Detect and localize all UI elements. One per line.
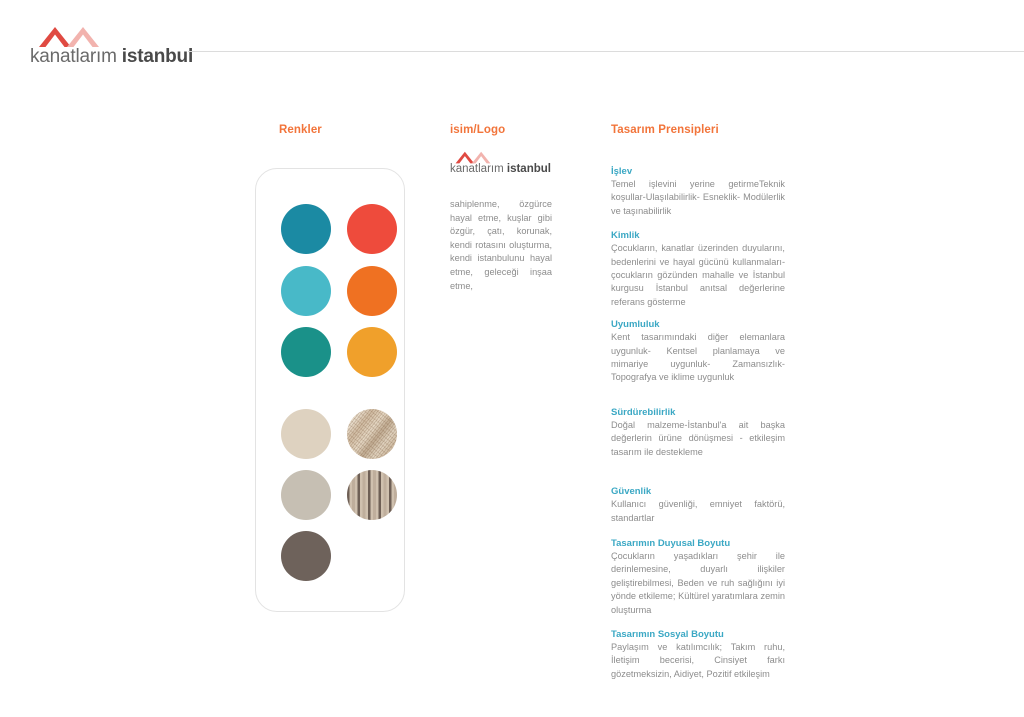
color-swatch-green-teal — [281, 327, 331, 377]
section-heading-isim-logo: isim/Logo — [450, 124, 505, 136]
principle-title: Tasarımın Duyusal Boyutu — [611, 538, 785, 549]
principle-block: Tasarımın Duyusal BoyutuÇocukların yaşad… — [611, 538, 785, 617]
isim-logo-column: kanatlarım istanbul sahiplenme, özgürce … — [450, 150, 555, 293]
brand-wordmark-light: kanatlarım — [30, 46, 117, 67]
principle-body: Çocukların, kanatlar üzerinden duyuların… — [611, 242, 785, 309]
principle-title: Sürdürebilirlik — [611, 407, 785, 418]
header-divider — [188, 51, 1024, 52]
color-swatch-coral-red — [347, 204, 397, 254]
color-swatch-wood-slats — [347, 470, 397, 520]
principle-block: İşlevTemel işlevini yerine getirmeTeknik… — [611, 166, 785, 218]
principle-body: Doğal malzeme-İstanbul'a ait başka değer… — [611, 419, 785, 459]
principle-body: Temel işlevini yerine getirmeTeknik koşu… — [611, 178, 785, 218]
color-swatch-teal-blue — [281, 204, 331, 254]
principle-block: GüvenlikKullanıcı güvenliği, emniyet fak… — [611, 486, 785, 525]
isim-logo-description: sahiplenme, özgürce hayal etme, kuşlar g… — [450, 198, 552, 293]
color-swatch-orange — [347, 266, 397, 316]
principle-block: KimlikÇocukların, kanatlar üzerinden duy… — [611, 230, 785, 309]
principle-title: Güvenlik — [611, 486, 785, 497]
principle-title: Kimlik — [611, 230, 785, 241]
brand-wordmark: kanatlarım istanbul — [30, 46, 193, 68]
color-swatch-amber-yellow — [347, 327, 397, 377]
color-swatch-wood-grain — [347, 409, 397, 459]
double-roof-chevron-icon — [455, 150, 491, 164]
principle-body: Çocukların yaşadıkları şehir ile derinle… — [611, 550, 785, 617]
mini-brand-wordmark: kanatlarım istanbul — [450, 163, 551, 175]
design-principles-column: İşlevTemel işlevini yerine getirmeTeknik… — [611, 166, 785, 681]
principle-block: Tasarımın Sosyal BoyutuPaylaşım ve katıl… — [611, 629, 785, 681]
mini-wordmark-light: kanatlarım — [450, 163, 504, 175]
mini-brand-logo: kanatlarım istanbul — [450, 150, 555, 184]
brand-wordmark-bold: istanbul — [122, 46, 193, 67]
color-swatch-dark-taupe — [281, 531, 331, 581]
section-heading-tasarim-prensipleri: Tasarım Prensipleri — [611, 124, 719, 136]
principle-body: Paylaşım ve katılımcılık; Takım ruhu, İl… — [611, 641, 785, 681]
principle-title: Tasarımın Sosyal Boyutu — [611, 629, 785, 640]
principle-block: SürdürebilirlikDoğal malzeme-İstanbul'a … — [611, 407, 785, 459]
double-roof-chevron-icon — [38, 24, 100, 48]
principle-title: Uyumluluk — [611, 319, 785, 330]
mini-wordmark-bold: istanbul — [507, 163, 551, 175]
principle-body: Kullanıcı güvenliği, emniyet faktörü, st… — [611, 498, 785, 525]
brand-header: kanatlarım istanbul — [0, 0, 1024, 52]
color-swatch-warm-grey — [281, 470, 331, 520]
brand-logo: kanatlarım istanbul — [30, 24, 190, 64]
principle-block: UyumlulukKent tasarımındaki diğer eleman… — [611, 319, 785, 385]
section-heading-renkler: Renkler — [279, 124, 322, 136]
color-swatch-light-cyan — [281, 266, 331, 316]
principle-title: İşlev — [611, 166, 785, 177]
color-swatch-sand-beige — [281, 409, 331, 459]
color-palette-panel — [255, 168, 405, 612]
principle-body: Kent tasarımındaki diğer elemanlara uygu… — [611, 331, 785, 385]
